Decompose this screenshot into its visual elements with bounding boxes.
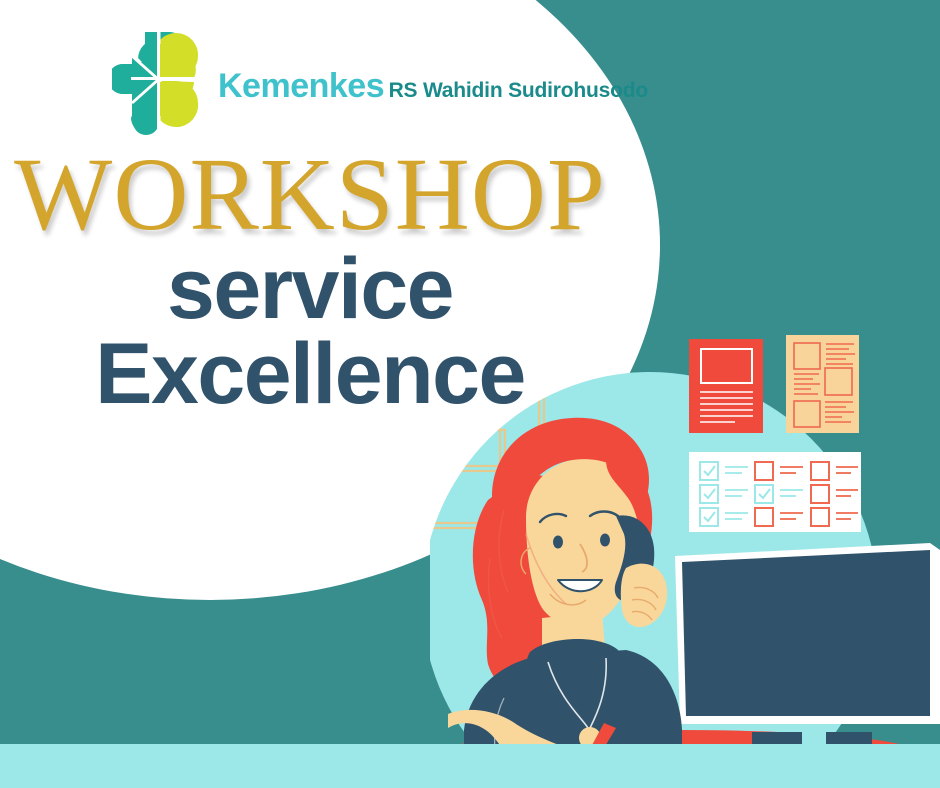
logo-line-hospital: RS Wahidin Sudirohusodo	[389, 79, 648, 102]
poster-canvas: Kemenkes RS Wahidin Sudirohusodo WORKSHO…	[0, 0, 940, 788]
title-excellence: Excellence	[0, 334, 620, 416]
monitor	[675, 543, 940, 754]
red-poster	[689, 339, 763, 433]
kemenkes-flower-logo-icon	[112, 32, 204, 136]
title-subtitle-block: service Excellence	[0, 249, 620, 416]
checklist-board	[689, 452, 861, 532]
title-service: service	[0, 249, 620, 331]
kemenkes-logo: Kemenkes RS Wahidin Sudirohusodo	[112, 32, 648, 136]
tan-document	[786, 335, 859, 433]
logo-text-block: Kemenkes RS Wahidin Sudirohusodo	[218, 65, 648, 103]
bottom-strip	[0, 744, 940, 788]
headline-block: WORKSHOP service Excellence	[0, 146, 620, 416]
title-workshop: WORKSHOP	[0, 146, 620, 245]
logo-line-kemenkes: Kemenkes	[218, 67, 384, 105]
